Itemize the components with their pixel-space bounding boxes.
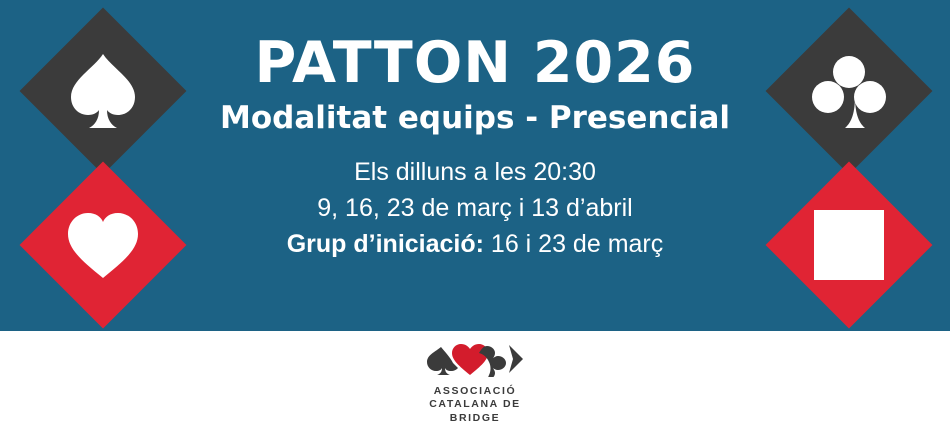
logo-line-2: CATALANA DE (429, 398, 520, 411)
logo-mark-icon (425, 343, 525, 382)
detail-line-beginners: Grup d’iniciació: 16 i 23 de març (185, 226, 765, 262)
detail-text-beginners: 16 i 23 de març (484, 230, 663, 258)
association-logo: ASSOCIACIÓ CATALANA DE BRIDGE (425, 343, 525, 424)
detail-line-dates: 9, 16, 23 de març i 13 d’abril (185, 190, 765, 226)
detail-text-schedule: Els dilluns a les 20:30 (354, 158, 596, 186)
diamond-tile (766, 162, 933, 329)
footer-bar: ASSOCIACIÓ CATALANA DE BRIDGE (0, 331, 950, 433)
logo-wordmark: ASSOCIACIÓ CATALANA DE BRIDGE (429, 385, 520, 424)
logo-line-1: ASSOCIACIÓ (429, 385, 520, 398)
logo-line-3: BRIDGE (429, 412, 520, 425)
club-icon (811, 52, 887, 130)
heart-tile (20, 162, 187, 329)
club-tile (766, 8, 933, 175)
page-title: PATTON 2026 (185, 34, 765, 94)
spade-tile (20, 8, 187, 175)
page-subtitle: Modalitat equips - Presencial (185, 100, 765, 136)
detail-lead-beginners: Grup d’iniciació: (287, 230, 484, 258)
heart-icon (64, 209, 142, 281)
diamond-icon (812, 208, 886, 282)
spade-icon (67, 52, 139, 130)
detail-text-dates: 9, 16, 23 de març i 13 d’abril (317, 194, 632, 222)
tournament-banner: PATTON 2026 Modalitat equips - Presencia… (0, 0, 950, 433)
headline-block: PATTON 2026 Modalitat equips - Presencia… (185, 34, 765, 263)
detail-line-schedule: Els dilluns a les 20:30 (185, 154, 765, 190)
